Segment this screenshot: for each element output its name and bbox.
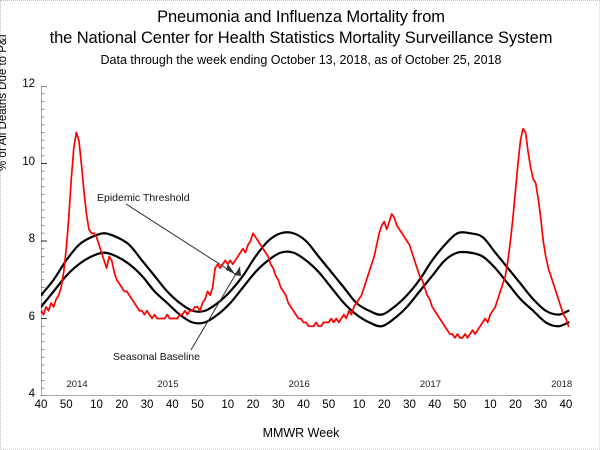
chart-page: Pneumonia and Influenza Mortality from t…	[0, 0, 600, 450]
x-axis-tick-label: 20	[109, 399, 135, 411]
y-axis-tick-label: 8	[13, 233, 35, 245]
x-axis-tick-label: 50	[184, 399, 210, 411]
x-axis-tick-label: 10	[346, 399, 372, 411]
x-axis-tick-label: 40	[422, 399, 448, 411]
x-axis-tick-label: 20	[240, 399, 266, 411]
title-block: Pneumonia and Influenza Mortality from t…	[1, 7, 600, 69]
x-axis-tick-label: 20	[502, 399, 528, 411]
x-axis-tick-label: 40	[159, 399, 185, 411]
x-axis-tick-label: 10	[477, 399, 503, 411]
x-axis-tick-label: 50	[53, 399, 79, 411]
epidemic-threshold-annotation: Epidemic Threshold	[97, 192, 190, 204]
x-axis-tick-label: 50	[447, 399, 473, 411]
seasonal-baseline-annotation: Seasonal Baseline	[113, 351, 200, 363]
page-title-line-1: Pneumonia and Influenza Mortality from	[1, 7, 600, 28]
page-title-line-2: the National Center for Health Statistic…	[1, 28, 600, 49]
x-axis-tick-label: 40	[290, 399, 316, 411]
x-axis-tick-label: 10	[84, 399, 110, 411]
x-axis-tick-label: 30	[134, 399, 160, 411]
x-axis-tick-label: 20	[371, 399, 397, 411]
plot-area	[41, 86, 571, 396]
epidemic-threshold-arrowhead	[226, 264, 235, 274]
x-axis-label: MMWR Week	[1, 426, 600, 440]
page-subtitle: Data through the week ending October 13,…	[1, 51, 600, 69]
observed-mortality-line	[41, 129, 568, 338]
x-axis-tick-label: 10	[215, 399, 241, 411]
data-series-group	[41, 129, 568, 338]
y-axis-tick-label: 6	[13, 311, 35, 323]
x-axis-tick-label: 50	[316, 399, 342, 411]
epidemic-threshold-leader-line	[126, 204, 235, 274]
x-axis-tick-label: 30	[396, 399, 422, 411]
y-axis-tick-label: 10	[13, 156, 35, 168]
y-axis-tick-label: 12	[13, 78, 35, 90]
seasonal-baseline-arrowhead	[234, 267, 241, 276]
epidemic-threshold-line	[41, 232, 568, 315]
mortality-line-chart	[41, 86, 571, 396]
x-axis-tick-label: 40	[553, 399, 579, 411]
x-axis-tick-label: 40	[28, 399, 54, 411]
y-axis-label: % of All Deaths Due to P&I	[0, 34, 9, 171]
x-axis-tick-label: 30	[265, 399, 291, 411]
x-axis-tick-label: 30	[528, 399, 554, 411]
